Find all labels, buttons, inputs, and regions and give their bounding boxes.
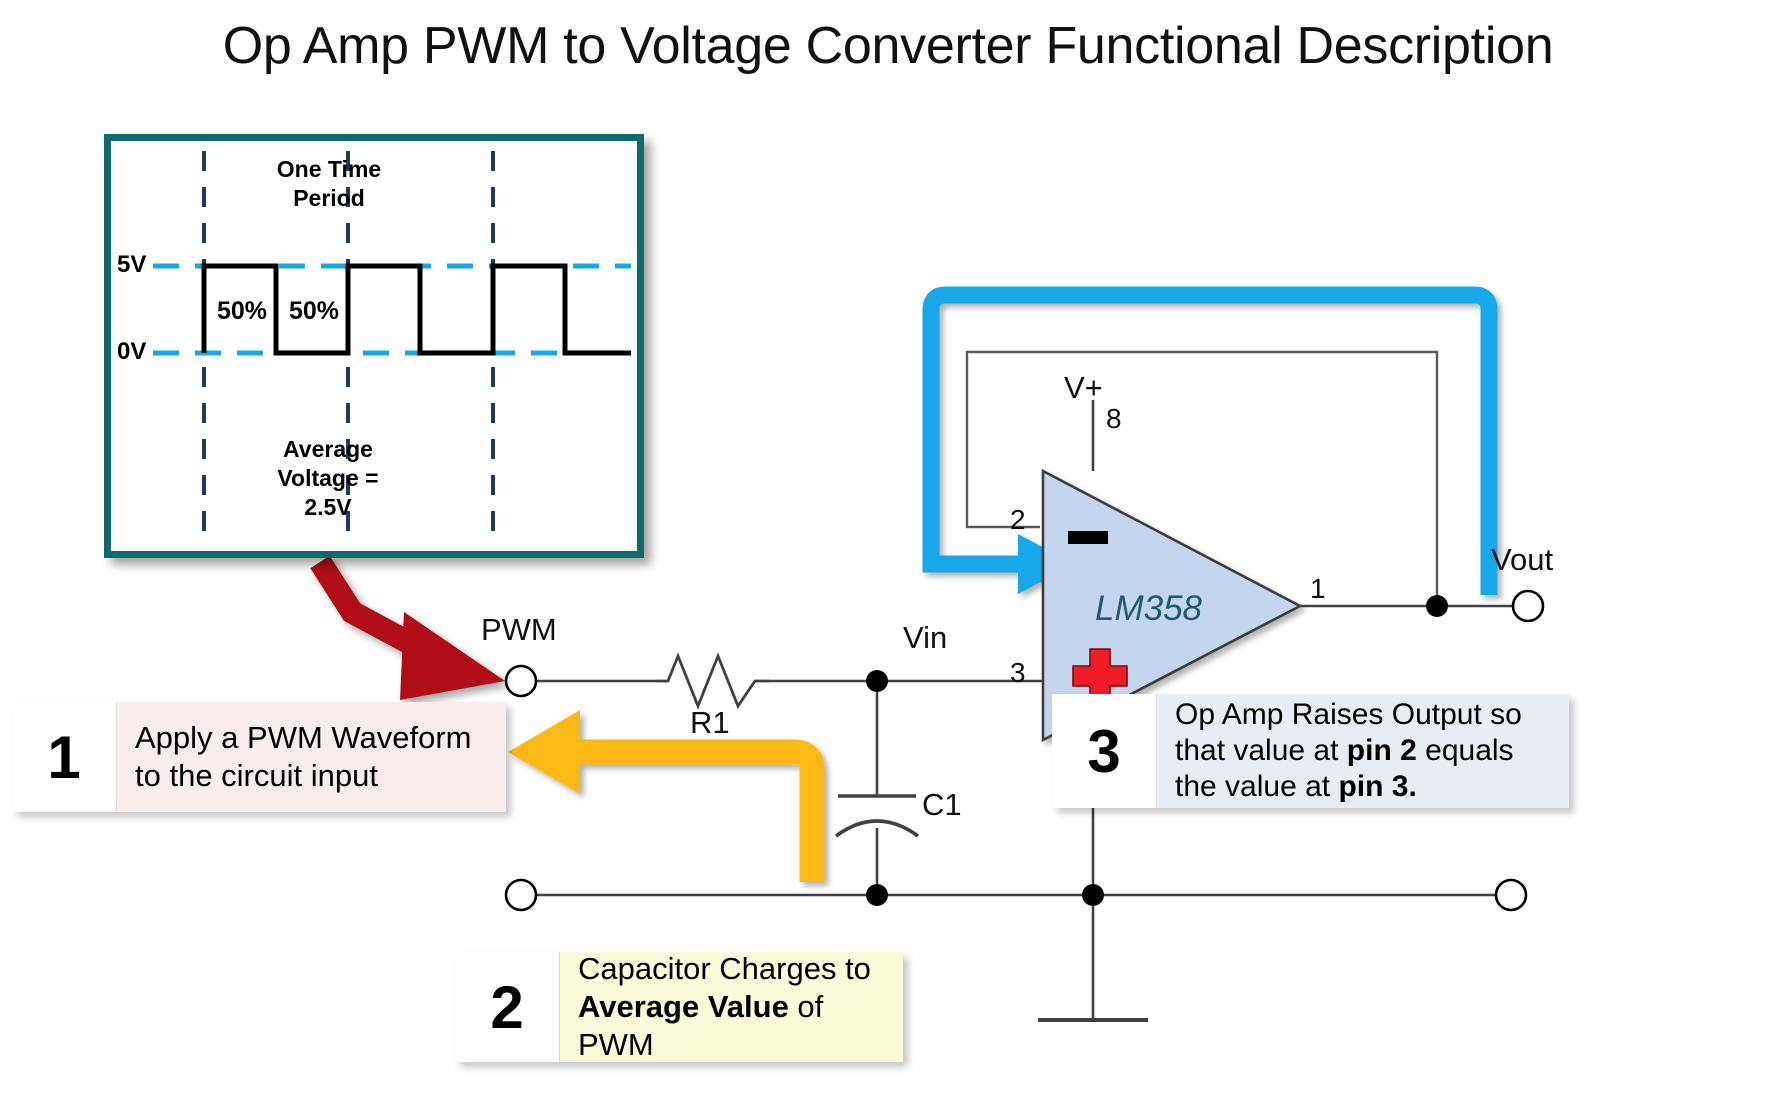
callout-2-line1: Capacitor Charges to xyxy=(578,950,887,988)
junction-dot-vin xyxy=(866,670,888,692)
junction-dot-ground-cap xyxy=(866,884,888,906)
callout-1-text: Apply a PWM Waveform to the circuit inpu… xyxy=(117,702,506,812)
junction-dot-ground-pin4 xyxy=(1082,884,1104,906)
terminal-vout[interactable] xyxy=(1513,591,1543,621)
callout-3-line2-post: equals xyxy=(1417,734,1514,767)
label-c1: C1 xyxy=(922,787,962,823)
pin-label-2: 2 xyxy=(1010,504,1026,536)
callout-3-line3: the value at pin 3. xyxy=(1175,769,1553,805)
red-arrow-icon xyxy=(320,562,505,700)
callout-3-line3-pre: the value at xyxy=(1175,770,1338,803)
one-time-period-label: One Time Period xyxy=(239,155,419,213)
yellow-arrow-icon xyxy=(508,710,812,882)
average-voltage-label: Average Voltage = 2.5V xyxy=(233,435,423,521)
label-vplus: V+ xyxy=(1064,370,1103,406)
callout-3-line3-bold: pin 3. xyxy=(1338,770,1416,803)
pwm-square-wave xyxy=(204,266,631,353)
terminal-ground-left[interactable] xyxy=(506,880,536,910)
callout-2-text: Capacitor Charges to Average Value of PW… xyxy=(560,952,903,1062)
callout-1-line1: Apply a PWM Waveform xyxy=(135,719,490,757)
label-lm358: LM358 xyxy=(1095,589,1202,629)
label-pwm-terminal: PWM xyxy=(481,612,557,648)
duty-label-high: 50% xyxy=(217,297,267,326)
callout-3-line2-pre: that value at xyxy=(1175,734,1347,767)
callout-2-number: 2 xyxy=(455,952,560,1062)
callout-3-number: 3 xyxy=(1052,694,1157,808)
pin-label-8: 8 xyxy=(1106,403,1122,435)
blue-feedback-arrow-icon xyxy=(931,295,1489,595)
callout-step-3: 3 Op Amp Raises Output so that value at … xyxy=(1052,694,1569,808)
pin-label-3: 3 xyxy=(1010,657,1026,689)
inverting-minus-icon xyxy=(1068,531,1108,544)
label-vout: Vout xyxy=(1491,542,1553,578)
callout-1-line2: to the circuit input xyxy=(135,757,490,795)
terminal-ground-right[interactable] xyxy=(1496,880,1526,910)
duty-label-low: 50% xyxy=(289,297,339,326)
callout-3-line2: that value at pin 2 equals xyxy=(1175,733,1553,769)
callout-3-line2-bold: pin 2 xyxy=(1347,734,1417,767)
label-r1: R1 xyxy=(690,705,730,741)
callout-3-line1: Op Amp Raises Output so xyxy=(1175,697,1553,733)
junction-dot-vout xyxy=(1426,595,1448,617)
pin-label-1: 1 xyxy=(1310,573,1326,605)
level-label-5v: 5V xyxy=(117,251,146,279)
callout-2-bold: Average Value xyxy=(578,989,789,1024)
level-label-0v: 0V xyxy=(117,338,146,366)
callout-step-1: 1 Apply a PWM Waveform to the circuit in… xyxy=(12,702,506,812)
terminal-pwm-input[interactable] xyxy=(506,666,536,696)
callout-1-number: 1 xyxy=(12,702,117,812)
callout-2-line2: Average Value of PWM xyxy=(578,988,887,1064)
callout-step-2: 2 Capacitor Charges to Average Value of … xyxy=(455,952,903,1062)
pwm-waveform-inset: One Time Period 5V 0V 50% 50% Average Vo… xyxy=(104,134,644,558)
label-vin: Vin xyxy=(903,620,947,656)
callout-3-text: Op Amp Raises Output so that value at pi… xyxy=(1157,694,1569,808)
